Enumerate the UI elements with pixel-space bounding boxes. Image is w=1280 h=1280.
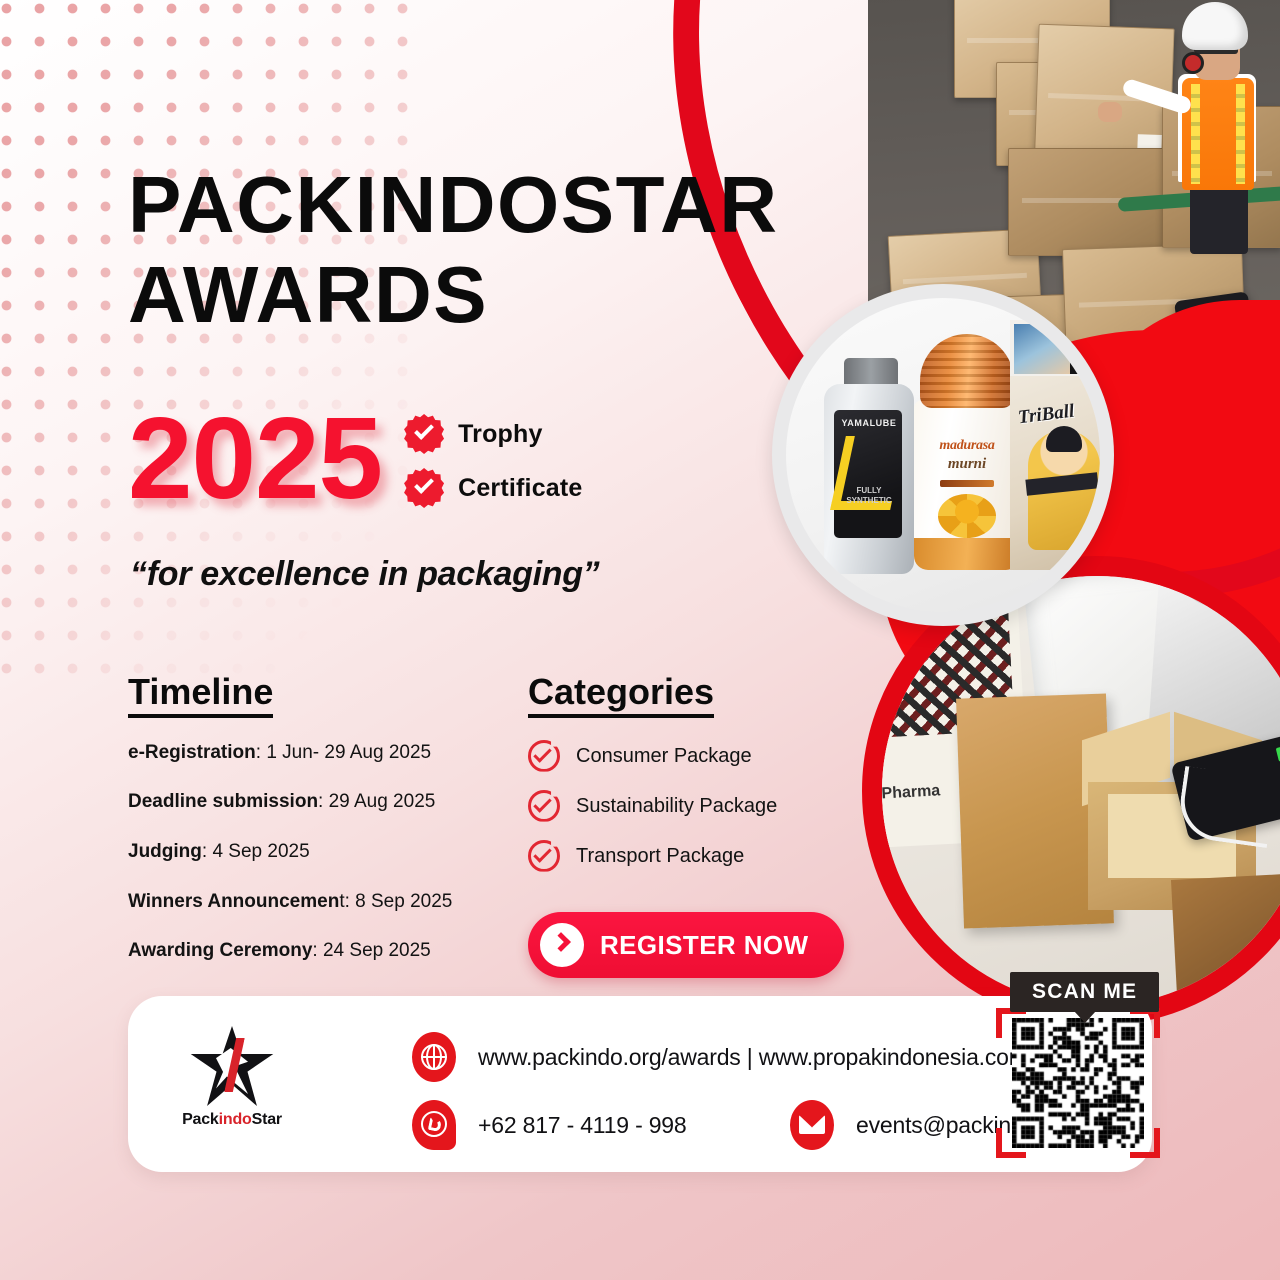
category-item-consumer: Consumer Package: [528, 740, 858, 772]
brown-shipping-box: [1171, 872, 1280, 1000]
register-now-button[interactable]: REGISTER NOW: [528, 912, 844, 978]
badge-check-icon: [404, 468, 444, 508]
globe-icon: [412, 1032, 456, 1082]
perk-label-certificate: Certificate: [458, 476, 582, 501]
timeline-row: Deadline submission: 29 Aug 2025: [128, 789, 528, 815]
qr-code-image: [1012, 1018, 1144, 1148]
timeline-heading: Timeline: [128, 672, 273, 718]
poster-root: Pharma YAMALUBE FULLY SYNTHETIC: [0, 0, 1280, 1280]
tagline: “for excellence in packaging”: [130, 556, 599, 593]
headline-group: PACKINDOSTAR AWARDS: [128, 164, 888, 335]
product-showcase-circle: YAMALUBE FULLY SYNTHETIC madurasa murni …: [772, 284, 1114, 626]
packaging-ring-group: Pharma: [862, 556, 1280, 1026]
chevron-right-icon: [540, 923, 584, 967]
timeline-row: e-Registration: 1 Jun- 29 Aug 2025: [128, 740, 528, 766]
timeline-label: Judging: [128, 841, 202, 862]
timeline-label: Awarding Ceremony: [128, 940, 312, 961]
honey-jar: madurasa murni: [914, 334, 1020, 570]
qr-code-block[interactable]: [996, 1008, 1160, 1158]
yamalube-bottle: YAMALUBE FULLY SYNTHETIC: [822, 358, 916, 574]
timeline-label: e-Registration: [128, 742, 256, 763]
check-circle-icon: [528, 740, 560, 772]
timeline-value: 29 Aug 2025: [329, 791, 436, 812]
box-brand-label: TriBall: [1017, 397, 1100, 430]
perk-item-certificate: Certificate: [404, 468, 582, 508]
title-line-1: PACKINDOSTAR: [128, 164, 888, 246]
logo-text-post: Star: [252, 1111, 282, 1128]
category-item-sustainability: Sustainability Package: [528, 790, 858, 822]
bottle-brand-label: YAMALUBE: [838, 418, 900, 428]
timeline-value: 4 Sep 2025: [212, 841, 309, 862]
categories-section: Categories Consumer Package Sustainabili…: [528, 672, 858, 978]
logo-text-pre: Pack: [182, 1111, 219, 1128]
triball-package-box: TriBall: [1010, 320, 1100, 570]
packindostar-logo: PackindoStar: [172, 1026, 292, 1128]
category-label: Consumer Package: [576, 746, 752, 766]
timeline-row: Winners Announcement: 8 Sep 2025: [128, 889, 528, 915]
warehouse-worker: [1138, 2, 1278, 252]
check-circle-icon: [528, 790, 560, 822]
category-label: Sustainability Package: [576, 796, 777, 816]
category-item-transport: Transport Package: [528, 840, 858, 872]
timeline-section: Timeline e-Registration: 1 Jun- 29 Aug 2…: [128, 672, 528, 988]
check-circle-icon: [528, 840, 560, 872]
scan-me-badge: SCAN ME: [1010, 972, 1159, 1012]
pharma-bag-text: Pharma: [882, 782, 941, 803]
title-line-2: AWARDS: [128, 254, 888, 336]
star-logo-icon: [189, 1026, 275, 1106]
category-label: Transport Package: [576, 846, 744, 866]
bottle-sub-label: FULLY SYNTHETIC: [836, 486, 902, 506]
timeline-value: 24 Sep 2025: [323, 940, 431, 961]
perk-list: Trophy Certificate: [404, 414, 582, 508]
product-showcase-inner: YAMALUBE FULLY SYNTHETIC madurasa murni …: [786, 298, 1100, 612]
phone-text: +62 817 - 4119 - 998: [478, 1114, 687, 1137]
register-now-label: REGISTER NOW: [600, 932, 808, 958]
timeline-row: Judging: 4 Sep 2025: [128, 839, 528, 865]
timeline-value: t: 8 Sep 2025: [339, 891, 452, 912]
perk-label-trophy: Trophy: [458, 422, 543, 447]
timeline-label: Deadline submission: [128, 791, 318, 812]
perk-item-trophy: Trophy: [404, 414, 582, 454]
envelope-icon: [790, 1100, 834, 1150]
badge-check-icon: [404, 414, 444, 454]
jar-sub-label: murni: [922, 456, 1012, 473]
jar-brand-label: madurasa: [922, 438, 1012, 454]
timeline-label: Winners Announcemen: [128, 891, 339, 912]
phone-row[interactable]: +62 817 - 4119 - 998: [412, 1100, 687, 1150]
whatsapp-phone-icon: [412, 1100, 456, 1150]
timeline-row: Awarding Ceremony: 24 Sep 2025: [128, 938, 528, 964]
logo-text-mid: indo: [219, 1111, 252, 1128]
timeline-value: 1 Jun- 29 Aug 2025: [266, 742, 431, 763]
logo-wordmark: PackindoStar: [172, 1112, 292, 1128]
categories-heading: Categories: [528, 672, 714, 718]
year-and-perks: 2025 Trophy Certificate: [128, 400, 583, 516]
website-text: www.packindo.org/awards | www.propakindo…: [478, 1046, 1028, 1069]
website-row[interactable]: www.packindo.org/awards | www.propakindo…: [412, 1032, 1028, 1082]
year-label: 2025: [128, 400, 382, 516]
